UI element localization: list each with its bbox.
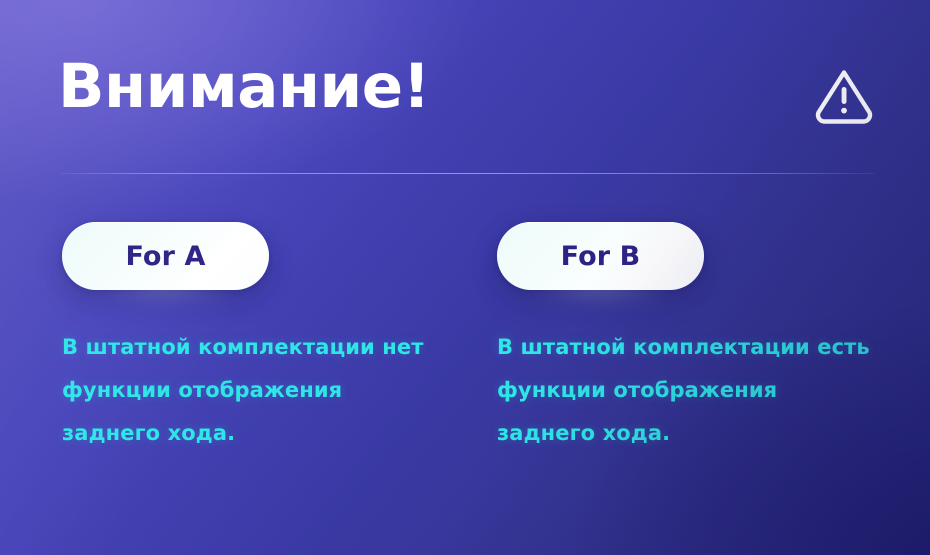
option-a-description: В штатной комплектации нет функции отобр… [62, 326, 447, 455]
button-a-wrapper: For A [62, 222, 269, 290]
option-column-a: For A В штатной комплектации нет функции… [62, 222, 462, 455]
page-title: Внимание! [58, 53, 430, 121]
option-b-description: В штатной комплектации есть функции отоб… [497, 326, 882, 455]
for-a-button[interactable]: For A [62, 222, 269, 290]
button-b-wrapper: For B [497, 222, 704, 290]
header-divider [60, 173, 875, 174]
warning-triangle-icon [812, 64, 876, 128]
for-b-button[interactable]: For B [497, 222, 704, 290]
slide-root: Внимание! For A В штатной комплектации н… [0, 0, 930, 555]
option-column-b: For B В штатной комплектации есть функци… [497, 222, 897, 455]
